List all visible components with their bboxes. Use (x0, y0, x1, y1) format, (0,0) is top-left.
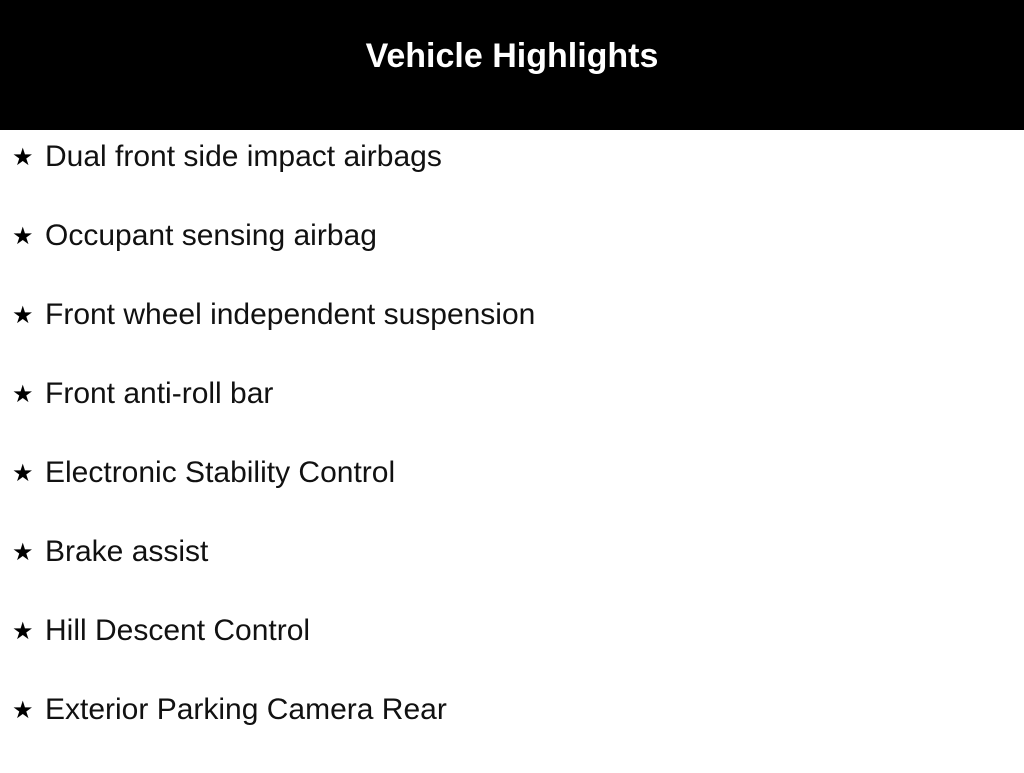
highlight-label: Front anti-roll bar (45, 378, 273, 410)
highlight-label: Front wheel independent suspension (45, 299, 535, 331)
list-item: ★ Hill Descent Control (0, 615, 1024, 694)
list-item: ★ Occupant sensing airbag (0, 220, 1024, 299)
vehicle-highlights-page: Vehicle Highlights ★ Dual front side imp… (0, 0, 1024, 768)
star-icon: ★ (12, 694, 45, 726)
highlight-label: Dual front side impact airbags (45, 141, 442, 173)
star-icon: ★ (12, 378, 45, 410)
list-item: ★ Exterior Parking Camera Rear (0, 694, 1024, 773)
list-item: ★ Dual front side impact airbags (0, 141, 1024, 220)
highlight-label: Brake assist (45, 536, 208, 568)
highlight-label: Occupant sensing airbag (45, 220, 377, 252)
star-icon: ★ (12, 299, 45, 331)
list-item: ★ Front wheel independent suspension (0, 299, 1024, 378)
list-item: ★ Electronic Stability Control (0, 457, 1024, 536)
page-header: Vehicle Highlights (0, 0, 1024, 130)
star-icon: ★ (12, 615, 45, 647)
star-icon: ★ (12, 457, 45, 489)
highlight-label: Electronic Stability Control (45, 457, 395, 489)
page-title: Vehicle Highlights (366, 39, 659, 73)
list-item: ★ Front anti-roll bar (0, 378, 1024, 457)
highlight-label: Exterior Parking Camera Rear (45, 694, 447, 726)
star-icon: ★ (12, 536, 45, 568)
highlight-label: Hill Descent Control (45, 615, 310, 647)
vehicle-highlights-list: ★ Dual front side impact airbags ★ Occup… (0, 130, 1024, 773)
list-item: ★ Brake assist (0, 536, 1024, 615)
star-icon: ★ (12, 220, 45, 252)
star-icon: ★ (12, 141, 45, 173)
